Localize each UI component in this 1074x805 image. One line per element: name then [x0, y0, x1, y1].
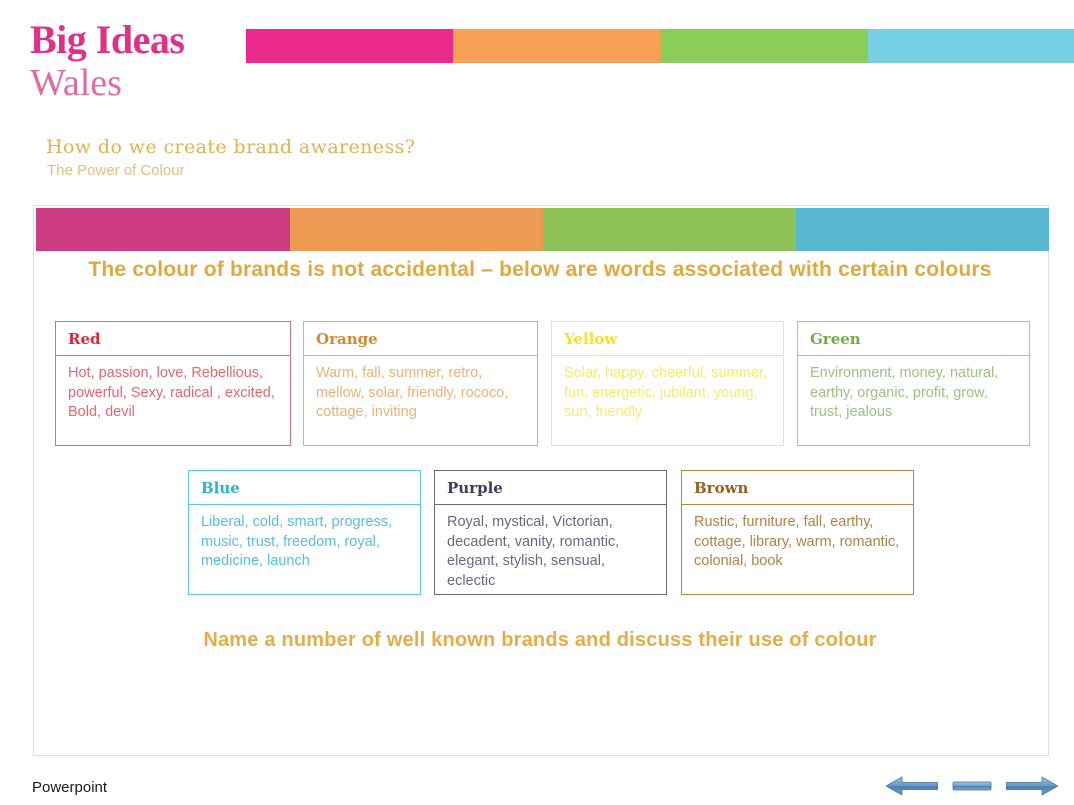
colour-card-words: Environment, money, natural, earthy, org… [798, 356, 1029, 429]
top-strip-segment-blue [868, 29, 1074, 63]
colour-card-title: Red [56, 322, 290, 356]
top-strip-segment-pink [246, 29, 453, 63]
colour-card-words: Warm, fall, summer, retro, mellow, solar… [304, 356, 537, 429]
colour-card-words: Liberal, cold, smart, progress, music, t… [189, 505, 420, 578]
brand-name-primary: Big Ideas [30, 18, 230, 62]
section-headline: The colour of brands is not accidental –… [70, 256, 1010, 284]
footer-label: Powerpoint [32, 779, 107, 796]
colour-card-purple: Purple Royal, mystical, Victorian, decad… [434, 470, 667, 595]
colour-card-red: Red Hot, passion, love, Rebellious, powe… [55, 321, 291, 446]
colour-card-blue: Blue Liberal, cold, smart, progress, mus… [188, 470, 421, 595]
band-segment-pink [36, 208, 290, 251]
band-segment-green [543, 208, 796, 251]
content-color-band [36, 208, 1049, 251]
top-color-strip [246, 29, 1074, 63]
brand-logo: Big Ideas Wales [30, 18, 230, 104]
top-strip-segment-green [661, 29, 868, 63]
colour-card-brown: Brown Rustic, furniture, fall, earthy, c… [681, 470, 914, 595]
left-arrow-icon[interactable] [886, 775, 938, 797]
colour-card-yellow: Yellow Solar, happy, cheerful, summer, f… [551, 321, 784, 446]
activity-prompt: Name a number of well known brands and d… [70, 629, 1010, 652]
page-subtitle: The Power of Colour [47, 162, 185, 179]
colour-card-title: Yellow [552, 322, 783, 356]
band-segment-orange [290, 208, 543, 251]
colour-card-orange: Orange Warm, fall, summer, retro, mellow… [303, 321, 538, 446]
right-arrow-icon[interactable] [1006, 775, 1058, 797]
colour-card-title: Purple [435, 471, 666, 505]
colour-card-words: Rustic, furniture, fall, earthy, cottage… [682, 505, 913, 578]
page-title: How do we create brand awareness? [46, 136, 415, 158]
colour-card-words: Hot, passion, love, Rebellious, powerful… [56, 356, 290, 429]
colour-card-title: Orange [304, 322, 537, 356]
colour-card-green: Green Environment, money, natural, earth… [797, 321, 1030, 446]
colour-card-words: Solar, happy, cheerful, summer, fun, ene… [552, 356, 783, 429]
bar-icon[interactable] [952, 775, 992, 797]
band-segment-blue [796, 208, 1049, 251]
slide-navigation [886, 775, 1058, 797]
colour-card-title: Blue [189, 471, 420, 505]
brand-name-secondary: Wales [30, 62, 230, 104]
colour-card-words: Royal, mystical, Victorian, decadent, va… [435, 505, 666, 597]
top-strip-segment-orange [453, 29, 661, 63]
colour-card-title: Green [798, 322, 1029, 356]
colour-card-title: Brown [682, 471, 913, 505]
